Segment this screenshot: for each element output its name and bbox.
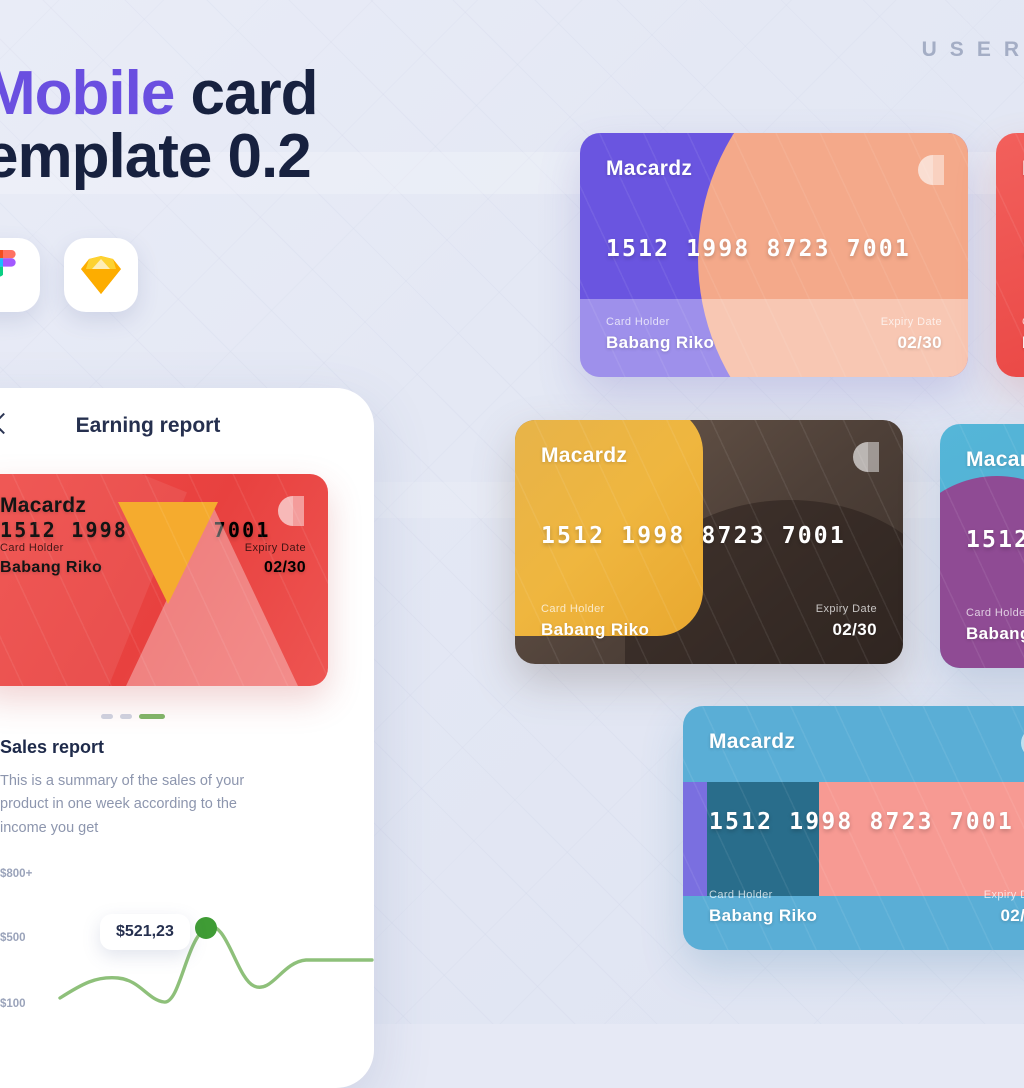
chart-tooltip: $521,23 [100,914,190,950]
chart-data-point-marker[interactable] [195,917,217,939]
card-holder-block: Card Holder Babang Riko [541,603,649,640]
pagination-dot-active[interactable] [139,714,165,719]
pagination-dot[interactable] [101,714,113,719]
card-holder-block: Card Holder Babang Riko [709,889,817,926]
credit-card-red[interactable]: Macardz 1512 1998 8723 7001 Card Holder … [996,133,1024,377]
sketch-glyph [80,255,122,295]
card-holder-value: Babang Riko [606,333,714,353]
user-label: USER [922,38,1024,62]
sales-line-chart: $800+ $500 $100 $521,23 [0,866,348,1056]
card-holder-label: Card Holder [966,607,1024,619]
sketch-icon[interactable] [64,238,138,312]
y-axis-tick-label: $500 [0,932,26,944]
y-axis-tick-label: $800+ [0,868,32,880]
card-logo-mark-icon [278,496,304,526]
card-expiry-label: Expiry Date [816,603,877,615]
card-holder-value: Babang Riko [541,620,649,640]
card-holder-label: Card Holder [0,542,102,554]
card-expiry-block: Expiry Date 02/30 [816,603,877,640]
figma-glyph [0,250,20,300]
card-footer: Card Holder Babang Riko Expiry Date 02/3… [709,889,1024,926]
page-title-accent: Mobile [0,59,174,128]
y-axis-tick-label: $100 [0,998,26,1010]
card-brand: Macardz [966,448,1024,472]
app-icon-row [0,238,138,312]
card-number: 1512 1998 8723 7001 [606,236,942,262]
page-title-line-1: Mobile card [0,62,318,125]
card-expiry-label: Expiry Date [984,889,1024,901]
card-footer: Card Holder Babang Expiry Date 02/30 [966,607,1024,644]
card-number: 1512 1998 8723 7001 [541,523,877,549]
card-brand: Macardz [606,157,942,181]
card-expiry-label: Expiry Date [881,316,942,328]
card-expiry-block: Expiry Date 02/30 [881,316,942,353]
phone-card-area: Macardz 1512 1998 8723 7001 Card Holder … [0,464,374,686]
chart-plot-area [56,866,374,1046]
card-brand: Macardz [541,444,877,468]
credit-card-brown[interactable]: Macardz 1512 1998 8723 7001 Card Holder … [515,420,903,664]
card-expiry-value: 02/30 [881,333,942,353]
pagination-dot[interactable] [120,714,132,719]
page-title: Mobile card emplate 0.2 [0,62,318,188]
credit-card-red-phone[interactable]: Macardz 1512 1998 8723 7001 Card Holder … [0,474,328,686]
page-title-line-1-rest: card [174,59,317,128]
card-footer: Card Holder Babang Riko Expiry Date 02/3… [606,316,942,353]
page-title-line-2: emplate 0.2 [0,125,318,188]
credit-card-purple[interactable]: Macardz 1512 1998 8723 7001 Card Holder … [580,133,968,377]
card-holder-value: Babang Riko [709,906,817,926]
card-holder-value: Babang [966,624,1024,644]
chevron-left-icon[interactable] [0,413,14,434]
phone-mockup: Earning report Macardz 1512 1998 8723 70… [0,388,374,1088]
sales-report-title: Sales report [0,737,348,758]
card-brand: Macardz [709,730,1024,754]
card-holder-label: Card Holder [709,889,817,901]
figma-icon[interactable] [0,238,40,312]
credit-card-cyan[interactable]: Macardz 1512 1998 8723 7001 Card Holder … [940,424,1024,668]
card-number: 1512 1998 8723 7001 [966,527,1024,553]
card-holder-block: Card Holder Babang Riko [606,316,714,353]
card-expiry-block: Expiry Date 02/30 [984,889,1024,926]
card-expiry-value: 02/30 [984,906,1024,926]
card-holder-label: Card Holder [541,603,649,615]
credit-card-blue[interactable]: Macardz 1512 1998 8723 7001 Card Holder … [683,706,1024,950]
card-expiry-label: Expiry Date [245,542,306,554]
phone-screen-title: Earning report [46,414,221,438]
card-number: 1512 1998 8723 7001 [709,809,1024,835]
card-holder-block: Card Holder Babang [966,607,1024,644]
card-expiry-value: 02/30 [816,620,877,640]
card-holder-label: Card Holder [606,316,714,328]
sales-report-section: Sales report This is a summary of the sa… [0,719,374,1056]
card-footer: Card Holder Babang Riko Expiry Date 02/3… [541,603,877,640]
phone-header: Earning report [0,388,374,464]
sales-report-description: This is a summary of the sales of your p… [0,770,270,840]
